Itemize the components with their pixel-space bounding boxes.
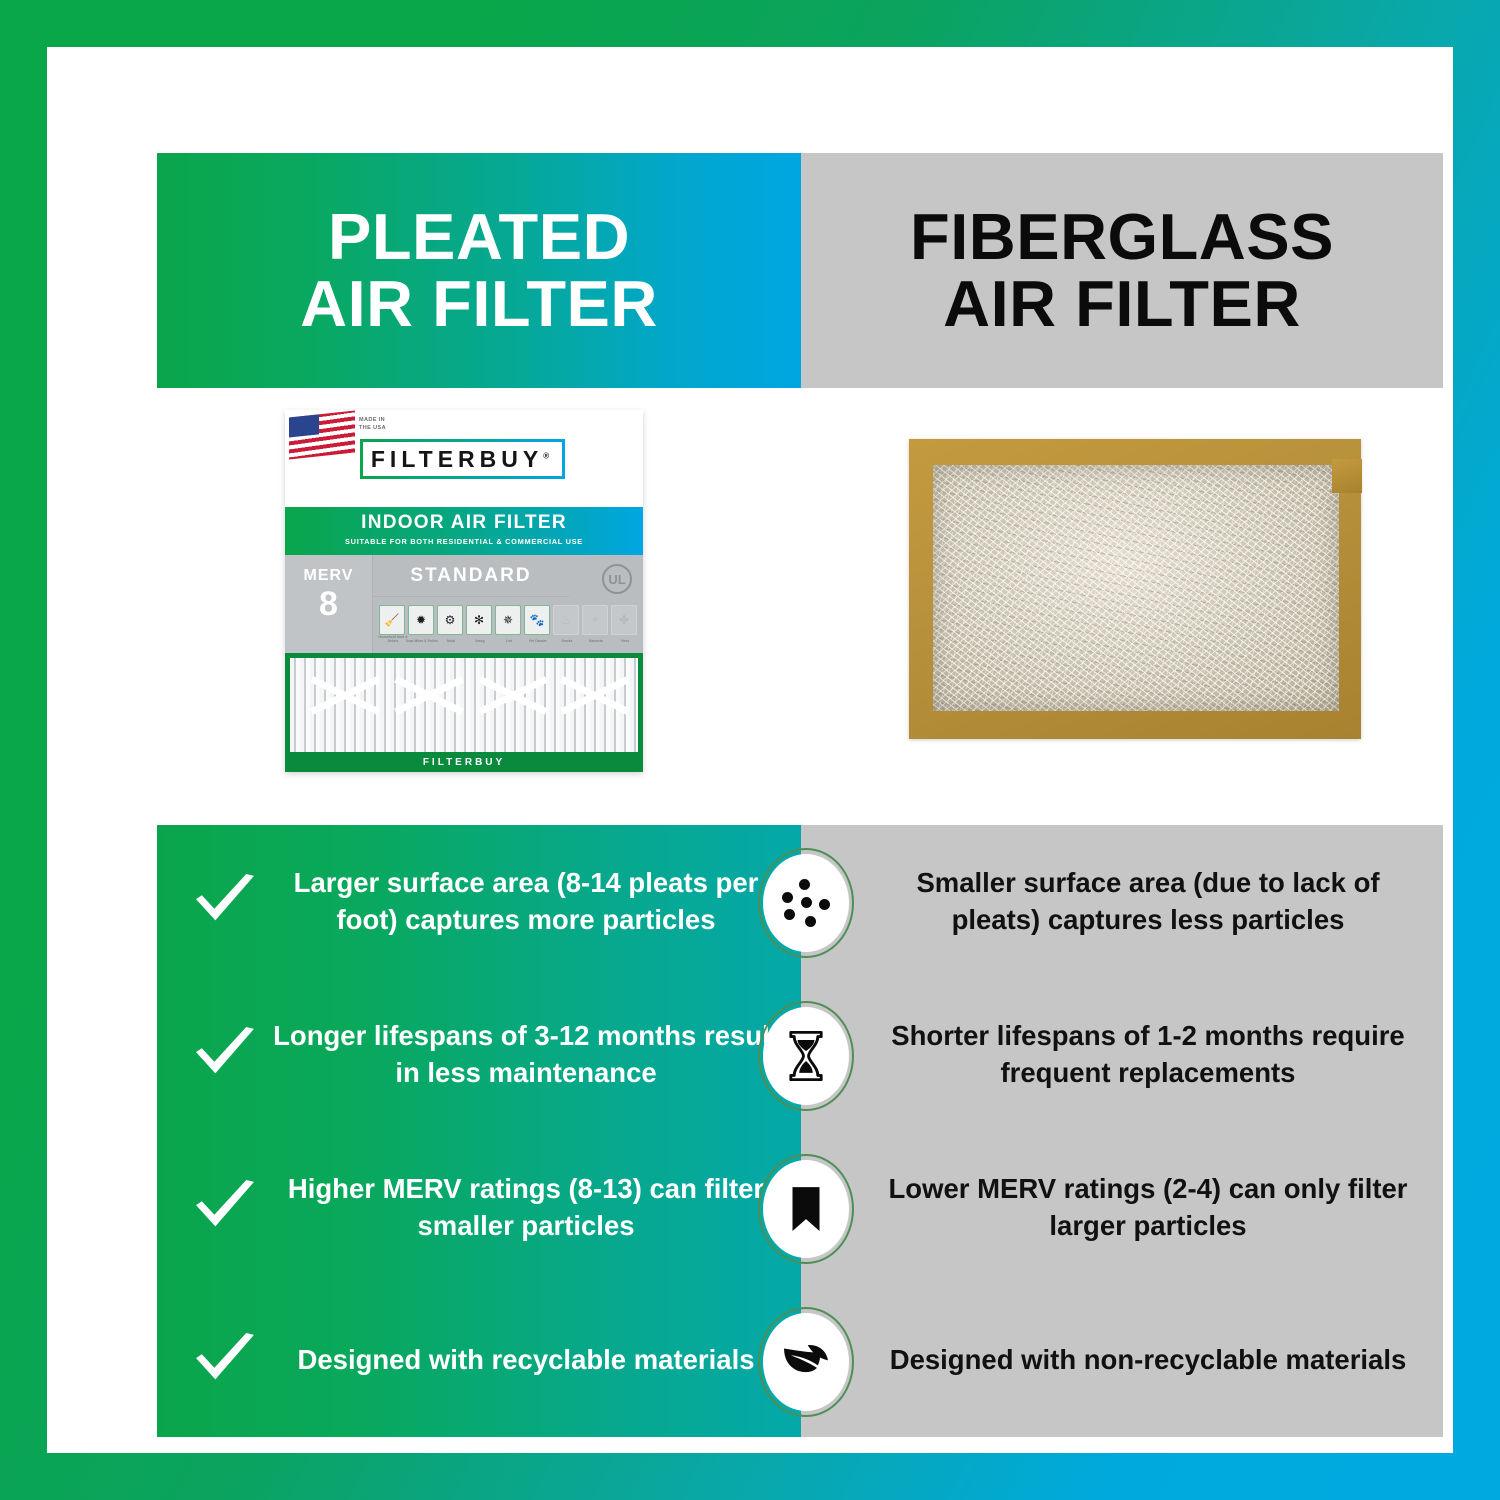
header-fiberglass-air-filter: FIBERGLASS AIR FILTER — [801, 153, 1443, 388]
feature-text-pleated: Higher MERV ratings (8-13) can filter sm… — [271, 1171, 787, 1244]
header-right-line1: FIBERGLASS — [910, 200, 1334, 273]
usa-flag-icon — [289, 411, 355, 460]
features-fiberglass-column: Smaller surface area (due to lack of ple… — [801, 825, 1443, 1437]
check-icon — [179, 1333, 271, 1389]
package-top: MADE IN THE USA FILTERBUY® — [285, 410, 643, 507]
pleat-diamond — [308, 662, 382, 748]
household-dust-debris-icon: 🧹Household Dust & Debris — [379, 605, 405, 635]
feature-text-pleated: Larger surface area (8-14 pleats per foo… — [271, 865, 787, 938]
package-band: INDOOR AIR FILTER SUITABLE FOR BOTH RESI… — [285, 507, 643, 555]
capability-glyph: ♨ — [561, 613, 572, 627]
virus-icon: ✤Virus — [611, 605, 637, 635]
grade-label: STANDARD — [373, 555, 569, 597]
filterbuy-package: MADE IN THE USA FILTERBUY® INDOOR AIR FI… — [285, 410, 643, 772]
feature-text-fiberglass: Designed with non-recyclable materials — [887, 1342, 1409, 1379]
capability-glyph: ✤ — [619, 613, 629, 627]
check-icon — [179, 874, 271, 930]
capability-glyph: 🐾 — [530, 613, 545, 627]
capability-caption: Mold — [435, 639, 467, 643]
capability-glyph: ✻ — [474, 613, 484, 627]
feature-text-pleated: Designed with recyclable materials — [271, 1342, 787, 1379]
package-spec-area: MERV 8 STANDARD UL 🧹Household Dust & Deb… — [285, 555, 643, 653]
mold-icon: ⚙Mold — [437, 605, 463, 635]
capability-caption: Pet Dander — [522, 639, 554, 643]
dust-mites-pollen-icon: ✹Dust Mites & Pollen — [408, 605, 434, 635]
feature-row-fiberglass: Shorter lifespans of 1-2 months require … — [801, 978, 1443, 1131]
capability-glyph: 🧹 — [385, 613, 400, 627]
merv-badge: MERV 8 — [285, 555, 373, 653]
pleated-filter-image: MADE IN THE USA FILTERBUY® INDOOR AIR FI… — [285, 410, 643, 800]
content-card: PLEATED AIR FILTER FIBERGLASS AIR FILTER — [47, 47, 1453, 1453]
ul-badge-text: UL — [602, 564, 632, 594]
capability-caption: Smoke — [551, 639, 583, 643]
pleat-texture — [290, 658, 638, 752]
feature-row-fiberglass: Lower MERV ratings (2-4) can only filter… — [801, 1131, 1443, 1284]
capability-glyph: ✹ — [416, 613, 426, 627]
smoke-icon: ♨Smoke — [553, 605, 579, 635]
check-icon — [179, 1027, 271, 1083]
feature-row-pleated: Larger surface area (8-14 pleats per foo… — [157, 825, 801, 978]
registered-mark: ® — [543, 451, 554, 460]
header-left-line2: AIR FILTER — [300, 271, 658, 337]
merv-label: MERV — [285, 567, 372, 585]
capability-caption: Bacteria — [580, 639, 612, 643]
capability-glyph: ⚙ — [445, 613, 456, 627]
check-icon — [179, 1180, 271, 1236]
pleat-diamond — [476, 662, 550, 748]
product-images-row: MADE IN THE USA FILTERBUY® INDOOR AIR FI… — [157, 388, 1443, 825]
merv-value: 8 — [285, 587, 372, 621]
capability-caption: Virus — [609, 639, 641, 643]
capability-caption: Smog — [464, 639, 496, 643]
header-pleated-air-filter: PLEATED AIR FILTER — [157, 153, 801, 388]
features-comparison: Larger surface area (8-14 pleats per foo… — [157, 825, 1443, 1437]
pleated-media: FILTERBUY — [285, 653, 643, 772]
made-in-usa-label: MADE IN THE USA — [359, 416, 419, 433]
capability-caption: Household Dust & Debris — [377, 635, 409, 643]
lint-icon: ✵Lint — [495, 605, 521, 635]
capability-icon-row: 🧹Household Dust & Debris✹Dust Mites & Po… — [375, 599, 641, 653]
fiberglass-filter-image — [909, 439, 1361, 739]
frame-brand-label: FILTERBUY — [285, 757, 643, 768]
feature-text-fiberglass: Smaller surface area (due to lack of ple… — [887, 865, 1409, 938]
band-title: INDOOR AIR FILTER — [285, 512, 643, 534]
brand-name: FILTERBUY — [371, 446, 543, 472]
pleat-diamond — [558, 662, 632, 748]
filterbuy-logo: FILTERBUY® — [360, 439, 565, 479]
features-pleated-column: Larger surface area (8-14 pleats per foo… — [157, 825, 801, 1437]
bacteria-icon: ⚬Bacteria — [582, 605, 608, 635]
feature-row-pleated: Longer lifespans of 3-12 months result i… — [157, 978, 801, 1131]
feature-row-fiberglass: Designed with non-recyclable materials — [801, 1284, 1443, 1437]
feature-text-fiberglass: Shorter lifespans of 1-2 months require … — [887, 1018, 1409, 1091]
ul-certified-icon: UL — [597, 561, 637, 597]
fiberglass-mesh — [933, 465, 1339, 711]
feature-text-pleated: Longer lifespans of 3-12 months result i… — [271, 1018, 787, 1091]
capability-glyph: ✵ — [503, 613, 513, 627]
comparison-headers: PLEATED AIR FILTER FIBERGLASS AIR FILTER — [157, 153, 1443, 388]
feature-row-fiberglass: Smaller surface area (due to lack of ple… — [801, 825, 1443, 978]
cardboard-corner-tab — [1332, 459, 1362, 493]
gradient-frame: PLEATED AIR FILTER FIBERGLASS AIR FILTER — [0, 0, 1500, 1500]
feature-text-fiberglass: Lower MERV ratings (2-4) can only filter… — [887, 1171, 1409, 1244]
capability-caption: Dust Mites & Pollen — [406, 639, 438, 643]
capability-glyph: ⚬ — [590, 613, 600, 627]
header-right-line2: AIR FILTER — [910, 271, 1334, 337]
pet-dander-icon: 🐾Pet Dander — [524, 605, 550, 635]
pleat-diamond — [392, 662, 466, 748]
feature-row-pleated: Designed with recyclable materials — [157, 1284, 801, 1437]
band-subtitle: SUITABLE FOR BOTH RESIDENTIAL & COMMERCI… — [285, 537, 643, 546]
header-left-line1: PLEATED — [328, 200, 630, 273]
feature-row-pleated: Higher MERV ratings (8-13) can filter sm… — [157, 1131, 801, 1284]
smog-icon: ✻Smog — [466, 605, 492, 635]
capability-caption: Lint — [493, 639, 525, 643]
